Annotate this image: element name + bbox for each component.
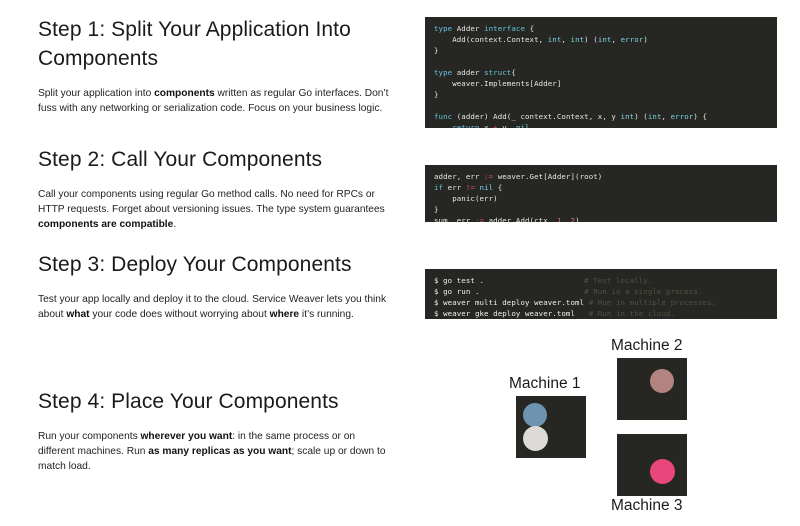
step-2-body: Call your components using regular Go me… [38,188,390,233]
step-1: Step 1: Split Your Application Into Comp… [38,16,398,117]
machine-1-component-2 [523,426,548,451]
step-2-heading: Step 2: Call Your Components [38,146,398,175]
code-block-go-call: adder, err := weaver.Get[Adder](root) if… [425,165,777,222]
steps-column: Step 1: Split Your Application Into Comp… [0,0,418,526]
step-4-heading: Step 4: Place Your Components [38,388,398,417]
machine-2-component-1 [650,369,674,393]
machine-3-box [617,434,687,496]
code-block-go-components: type Adder interface { Add(context.Conte… [425,17,777,128]
step-4: Step 4: Place Your Components Run your c… [38,388,398,475]
step-3-body: Test your app locally and deploy it to t… [38,293,390,323]
step-2: Step 2: Call Your Components Call your c… [38,146,398,233]
step-1-heading: Step 1: Split Your Application Into Comp… [38,16,398,74]
code-block-shell-deploy: $ go test . # Test locally. $ go run . #… [425,269,777,319]
page-root: Step 1: Split Your Application Into Comp… [0,0,800,526]
step-4-body: Run your components wherever you want: i… [38,430,390,475]
machine-3-label: Machine 3 [611,497,683,515]
step-3: Step 3: Deploy Your Components Test your… [38,251,398,323]
machine-2-label: Machine 2 [611,337,683,355]
machine-1-component-1 [523,403,547,427]
machine-1-label: Machine 1 [509,375,581,393]
machine-3-component-1 [650,459,675,484]
machine-2-box [617,358,687,420]
machine-1-box [516,396,586,458]
step-1-body: Split your application into components w… [38,87,390,117]
step-3-heading: Step 3: Deploy Your Components [38,251,398,280]
